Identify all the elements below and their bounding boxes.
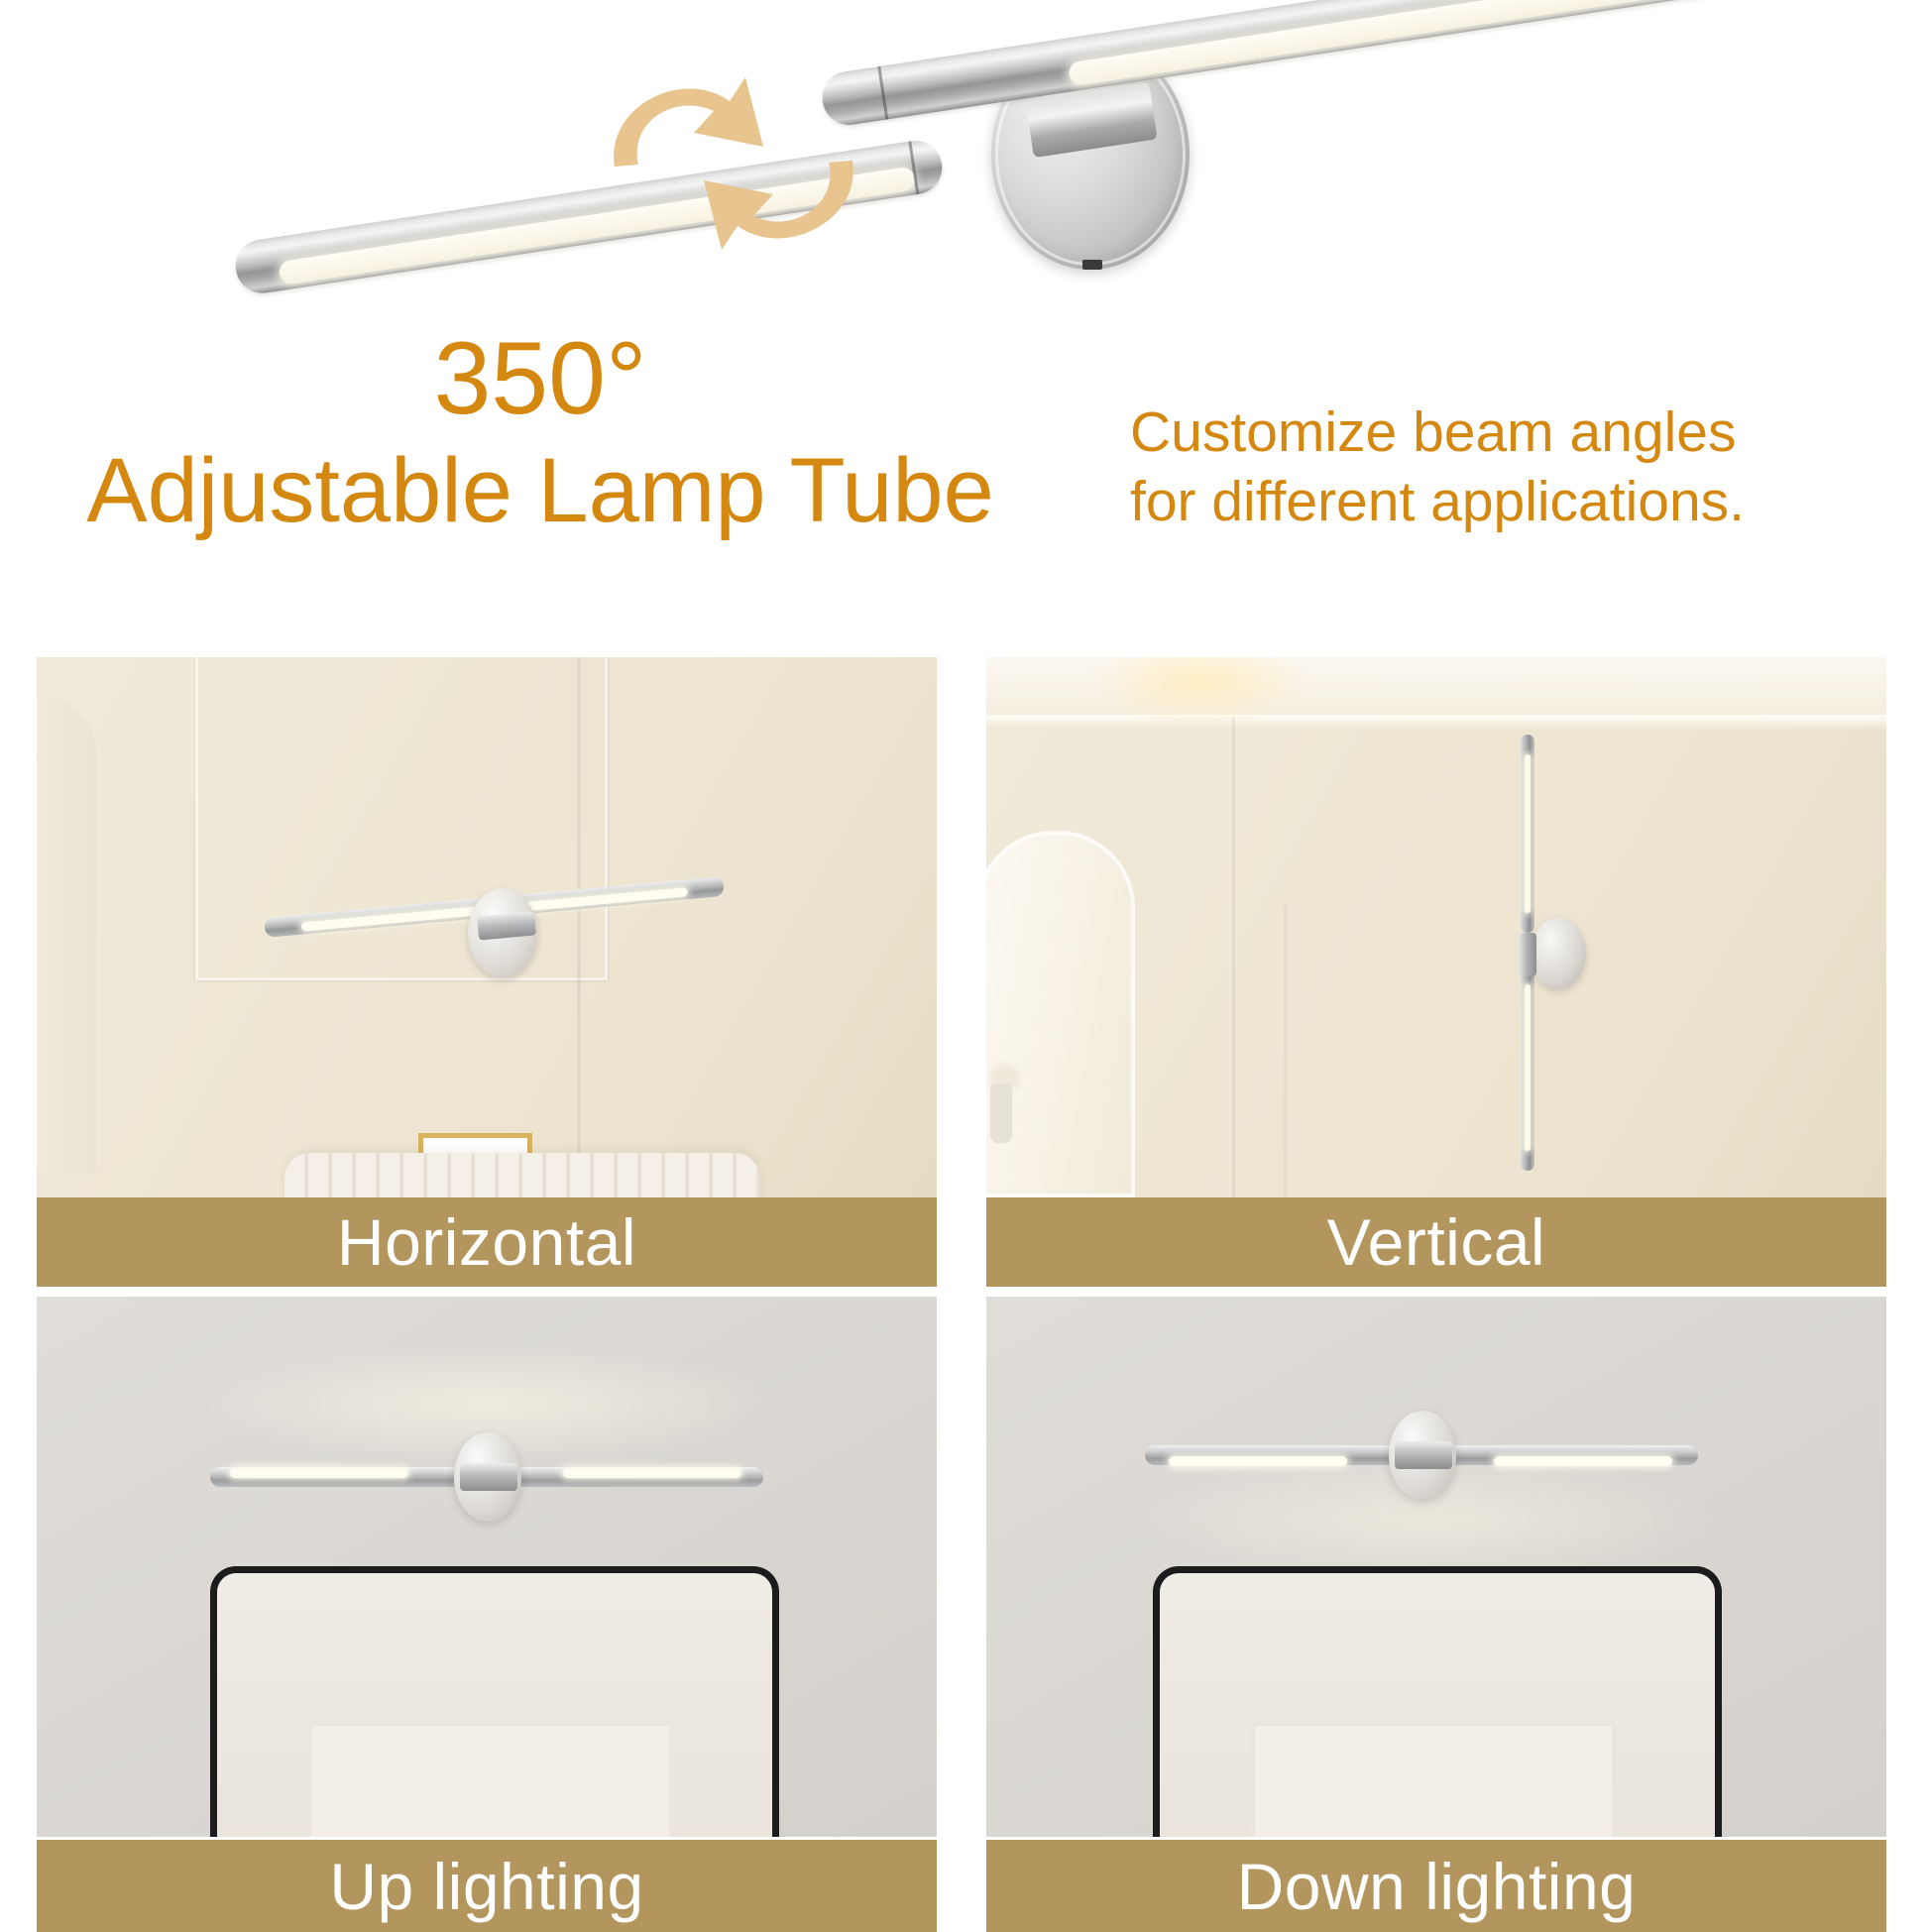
lamp-emitter-glow-right [1494,1456,1672,1466]
degrees-value: 350° [30,327,1051,430]
lamp-emitter-glow-right [563,1468,741,1478]
caption-horizontal: Horizontal [37,1197,937,1287]
panel-up-lighting[interactable] [37,1297,937,1837]
rotation-arrows-icon [555,50,912,278]
caption-up-lighting: Up lighting [37,1840,937,1932]
page-title: Adjustable Lamp Tube [30,442,1051,540]
caption-down-lighting: Down lighting [986,1840,1886,1932]
panel-vertical[interactable] [986,657,1886,1197]
lamp-emitter-glow-right [1067,0,1825,86]
vase [990,1083,1012,1143]
mount-screw-icon [1082,260,1102,270]
door-frame [1153,1566,1722,1837]
wall-arch-recess [37,697,96,1173]
lamp-tube-right-segment [819,0,1846,129]
door-frame [210,1566,779,1837]
subtext-line-2: for different applications. [1130,468,1923,537]
lamp-vertical [1507,735,1596,1171]
headline-block: 350° Adjustable Lamp Tube Customize beam… [0,327,1929,654]
rotating-joint-collar [460,1463,517,1491]
lamp-emitter-glow-upper [1525,754,1531,913]
lamp-assembly-illustration [228,18,1854,266]
usage-scenario-grid: Horizontal Vertical [37,657,1886,1929]
wall-seam-line [1284,905,1287,1197]
ceiling-cove-moulding [986,715,1886,729]
caption-vertical: Vertical [986,1197,1886,1287]
arched-niche [986,831,1135,1197]
panel-horizontal[interactable] [37,657,937,1197]
lamp-emitter-glow-left [1169,1456,1347,1466]
subtext-line-1: Customize beam angles [1130,398,1923,468]
headline-subtext: Customize beam angles for different appl… [1130,398,1923,536]
wall-mount-plate [1531,918,1586,989]
sofa [284,1153,760,1197]
door-panel-moulding [1251,1722,1616,1837]
lamp-emitter-glow-left [230,1468,408,1478]
panel-down-lighting[interactable] [986,1297,1886,1837]
hero-product-image [0,0,1929,327]
lamp-emitter-glow-lower [1525,984,1531,1151]
lamp-horizontal [265,870,740,1009]
lamp-down-lighting [1145,1384,1700,1533]
wall-corner-line [1232,717,1235,1197]
rotating-joint-collar [1395,1441,1452,1469]
door-panel-moulding [308,1722,673,1837]
rotating-joint-collar [1519,933,1536,976]
headline-left-column: 350° Adjustable Lamp Tube [30,327,1051,540]
lamp-up-lighting [210,1406,765,1554]
